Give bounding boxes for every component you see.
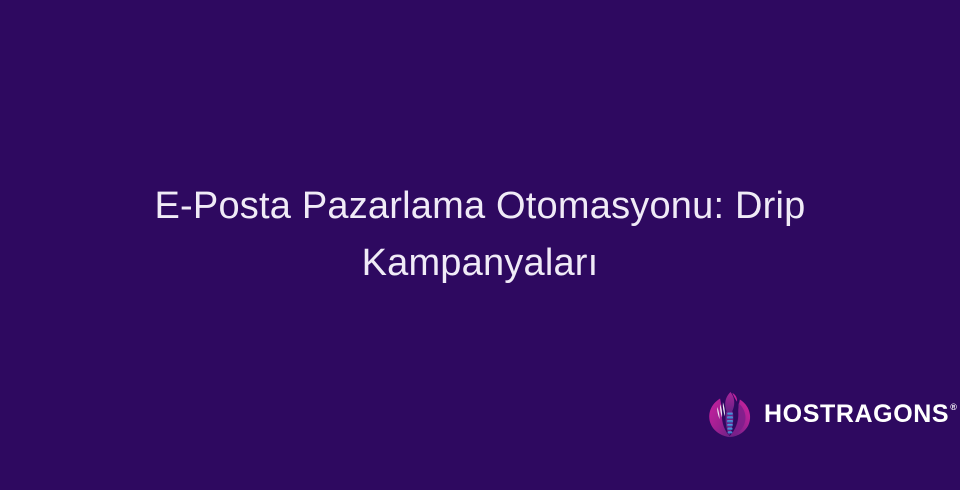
brand-name-text: HOSTRAGONS [764,402,949,427]
page-title-text: E-Posta Pazarlama Otomasyonu: Drip Kampa… [120,178,840,292]
brand-wordmark: HOSTRAGONS ® [764,402,957,427]
dragon-logo-icon [706,390,753,439]
registered-trademark-mark: ® [950,403,957,412]
brand-lockup: HOSTRAGONS ® [706,390,957,439]
page-title: E-Posta Pazarlama Otomasyonu: Drip Kampa… [0,178,960,292]
slide-canvas: E-Posta Pazarlama Otomasyonu: Drip Kampa… [0,0,960,490]
